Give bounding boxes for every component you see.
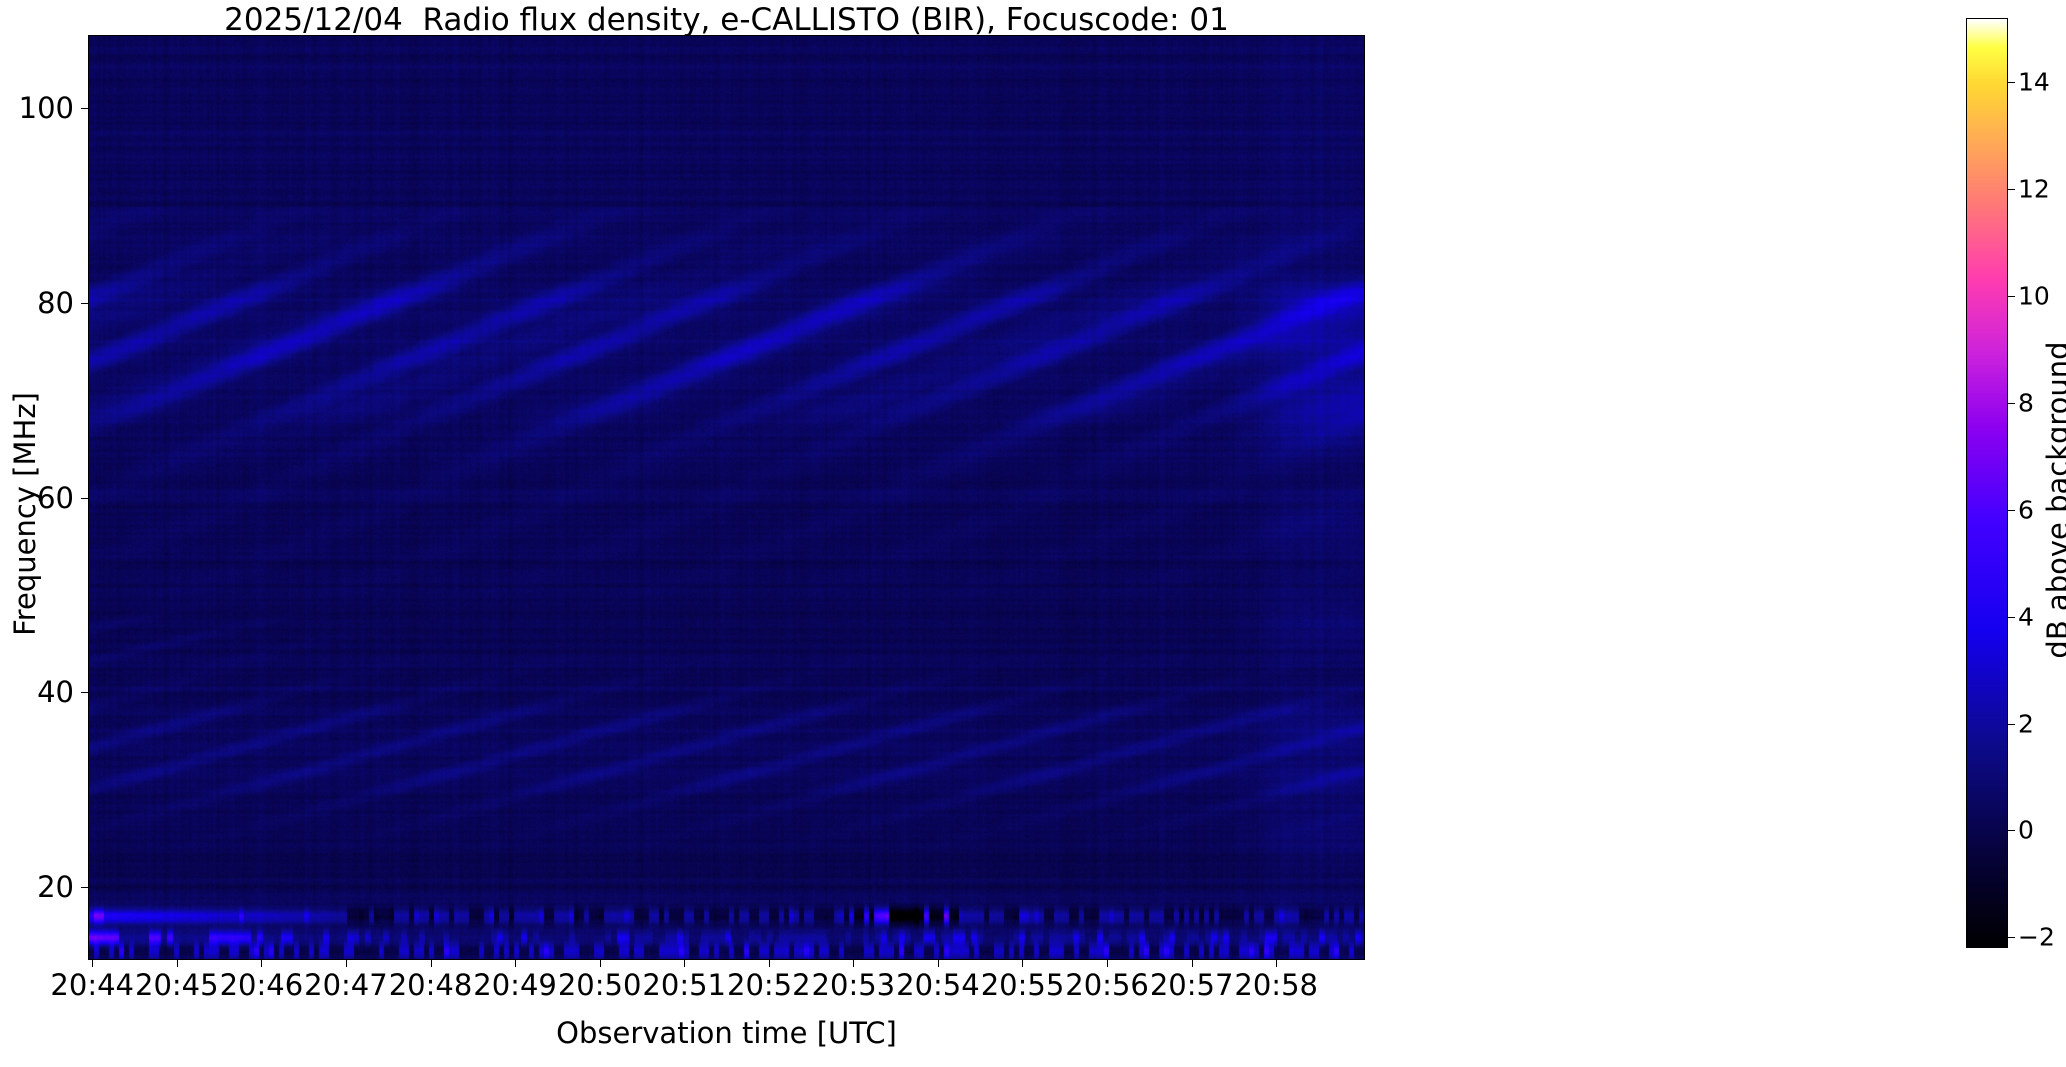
x-tick-mark (515, 960, 516, 967)
x-tick-label: 20:56 (1065, 968, 1149, 1002)
colorbar-tick-label: 4 (2018, 602, 2034, 631)
colorbar-axes[interactable] (1966, 18, 2008, 948)
x-tick-label: 20:55 (981, 968, 1065, 1002)
colorbar-tick-label: 8 (2018, 388, 2034, 417)
colorbar-tick-label: −2 (2018, 923, 2055, 952)
x-tick-mark (853, 960, 854, 967)
y-tick-mark (81, 692, 88, 693)
colorbar-label: dB above background (2041, 300, 2066, 700)
x-tick-mark (1107, 960, 1108, 967)
page-title: 2025/12/04 Radio flux density, e-CALLIST… (88, 2, 1365, 38)
x-tick-label: 20:48 (389, 968, 473, 1002)
colorbar-tick-mark (2008, 510, 2015, 511)
figure-canvas: 2025/12/04 Radio flux density, e-CALLIST… (0, 0, 2066, 1067)
y-tick-mark (81, 108, 88, 109)
colorbar-tick-mark (2008, 724, 2015, 725)
y-tick-label: 40 (0, 675, 74, 709)
y-tick-label: 100 (0, 91, 74, 125)
colorbar-tick-label: 0 (2018, 816, 2034, 845)
x-axis-label: Observation time [UTC] (88, 1016, 1365, 1050)
x-tick-mark (684, 960, 685, 967)
colorbar-tick-mark (2008, 830, 2015, 831)
y-tick-mark (81, 303, 88, 304)
x-tick-label: 20:51 (642, 968, 726, 1002)
colorbar-tick-mark (2008, 937, 2015, 938)
y-tick-label: 20 (0, 870, 74, 904)
x-tick-label: 20:58 (1234, 968, 1318, 1002)
y-tick-label: 80 (0, 286, 74, 320)
x-tick-label: 20:52 (727, 968, 811, 1002)
x-tick-mark (431, 960, 432, 967)
colorbar-tick-label: 6 (2018, 495, 2034, 524)
colorbar-tick-mark (2008, 189, 2015, 190)
y-tick-mark (81, 498, 88, 499)
x-tick-label: 20:49 (473, 968, 557, 1002)
y-tick-label: 60 (0, 481, 74, 515)
x-tick-mark (1276, 960, 1277, 967)
x-tick-mark (177, 960, 178, 967)
colorbar-gradient (1967, 19, 2008, 948)
x-tick-label: 20:54 (896, 968, 980, 1002)
colorbar-tick-label: 10 (2018, 281, 2050, 310)
x-tick-mark (938, 960, 939, 967)
x-tick-mark (1192, 960, 1193, 967)
colorbar-tick-label: 2 (2018, 709, 2034, 738)
x-tick-mark (600, 960, 601, 967)
colorbar-tick-mark (2008, 296, 2015, 297)
x-tick-label: 20:46 (220, 968, 304, 1002)
spectrogram-image (89, 36, 1365, 960)
colorbar-tick-mark (2008, 82, 2015, 83)
colorbar-tick-label: 14 (2018, 68, 2050, 97)
x-tick-label: 20:44 (50, 968, 134, 1002)
x-tick-label: 20:45 (135, 968, 219, 1002)
y-tick-mark (81, 887, 88, 888)
x-tick-mark (769, 960, 770, 967)
x-tick-mark (92, 960, 93, 967)
spectrogram-axes[interactable] (88, 35, 1365, 960)
colorbar-tick-mark (2008, 617, 2015, 618)
x-tick-mark (346, 960, 347, 967)
x-tick-label: 20:50 (558, 968, 642, 1002)
x-tick-label: 20:53 (812, 968, 896, 1002)
colorbar-tick-label: 12 (2018, 175, 2050, 204)
x-tick-label: 20:57 (1150, 968, 1234, 1002)
x-tick-label: 20:47 (304, 968, 388, 1002)
x-tick-mark (1022, 960, 1023, 967)
x-tick-mark (261, 960, 262, 967)
colorbar-tick-mark (2008, 403, 2015, 404)
